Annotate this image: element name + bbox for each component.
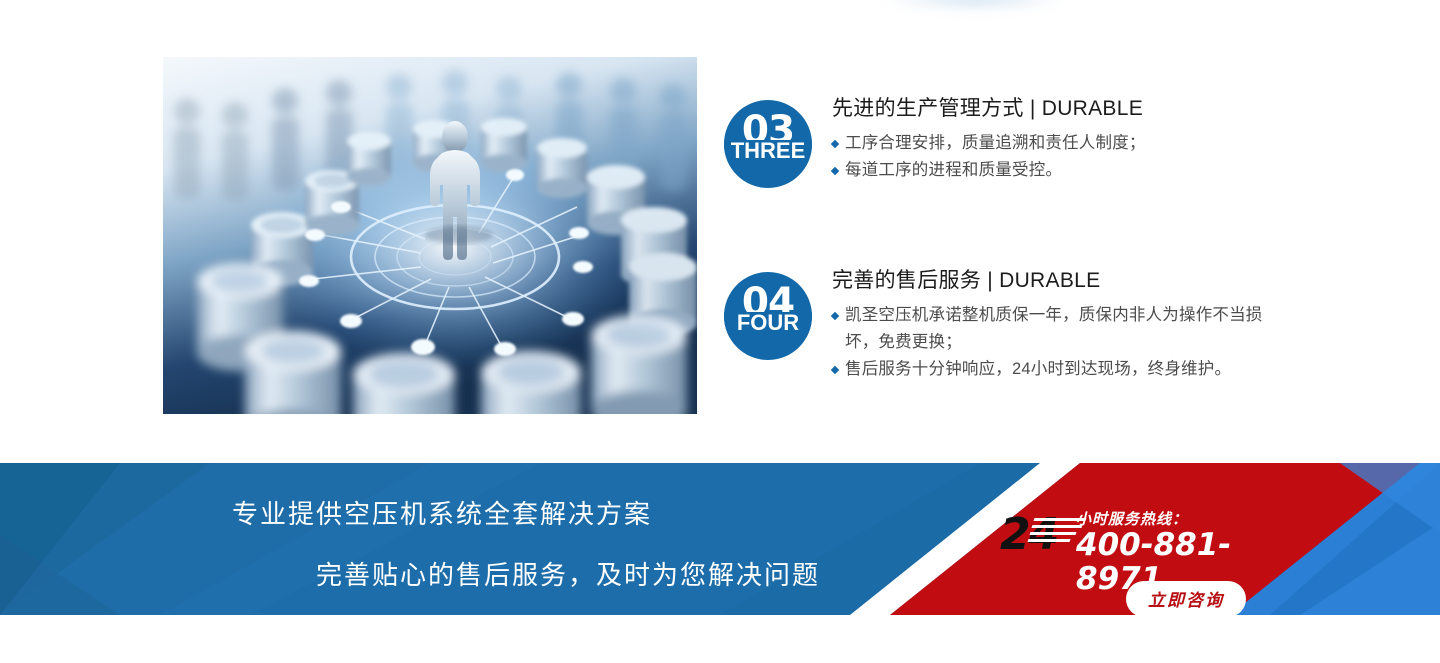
banner-content: 专业提供空压机系统全套解决方案 完善贴心的售后服务，及时为您解决问题 24 小时… — [0, 463, 1440, 615]
badge-03: 03 THREE — [724, 100, 812, 188]
feature-item-03: 03 THREE 先进的生产管理方式 | DURABLE 工序合理安排，质量追溯… — [724, 96, 1284, 200]
hotline-block: 24 小时服务热线： 400-881-8971 立即咨询 — [1000, 501, 1270, 611]
hotline-number: 400-881-8971 — [1076, 528, 1270, 596]
network-concept-image — [163, 57, 697, 414]
feature-body: 先进的生产管理方式 | DURABLE 工序合理安排，质量追溯和责任人制度； 每… — [832, 96, 1284, 184]
badge-word: FOUR — [724, 312, 812, 338]
list-item: 凯圣空压机承诺整机质保一年，质保内非人为操作不当损坏，免费更换； — [832, 302, 1284, 355]
feature-body: 完善的售后服务 | DURABLE 凯圣空压机承诺整机质保一年，质保内非人为操作… — [832, 268, 1284, 382]
feature-item-04: 04 FOUR 完善的售后服务 | DURABLE 凯圣空压机承诺整机质保一年，… — [724, 268, 1284, 382]
banner-slogan-primary: 专业提供空压机系统全套解决方案 — [232, 494, 652, 531]
list-item: 工序合理安排，质量追溯和责任人制度； — [832, 130, 1284, 157]
feature-title: 完善的售后服务 | DURABLE — [832, 268, 1284, 294]
list-item: 售后服务十分钟响应，24小时到达现场，终身维护。 — [832, 356, 1284, 383]
badge-04: 04 FOUR — [724, 272, 812, 360]
badge-word: THREE — [724, 140, 812, 166]
feature-bullets: 工序合理安排，质量追溯和责任人制度； 每道工序的进程和质量受控。 — [832, 130, 1284, 183]
feature-bullets: 凯圣空压机承诺整机质保一年，质保内非人为操作不当损坏，免费更换； 售后服务十分钟… — [832, 302, 1284, 382]
promo-page: 03 THREE 先进的生产管理方式 | DURABLE 工序合理安排，质量追溯… — [0, 0, 1440, 663]
banner-slogan-secondary: 完善贴心的售后服务，及时为您解决问题 — [316, 555, 820, 592]
top-glow-decoration — [880, 0, 1070, 12]
feature-list: 03 THREE 先进的生产管理方式 | DURABLE 工序合理安排，质量追溯… — [724, 96, 1284, 382]
hotline-label: 小时服务热线： — [1076, 508, 1188, 529]
list-item: 每道工序的进程和质量受控。 — [832, 157, 1284, 184]
feature-title: 先进的生产管理方式 | DURABLE — [832, 96, 1284, 122]
bottom-cta-banner: 专业提供空压机系统全套解决方案 完善贴心的售后服务，及时为您解决问题 24 小时… — [0, 463, 1440, 615]
